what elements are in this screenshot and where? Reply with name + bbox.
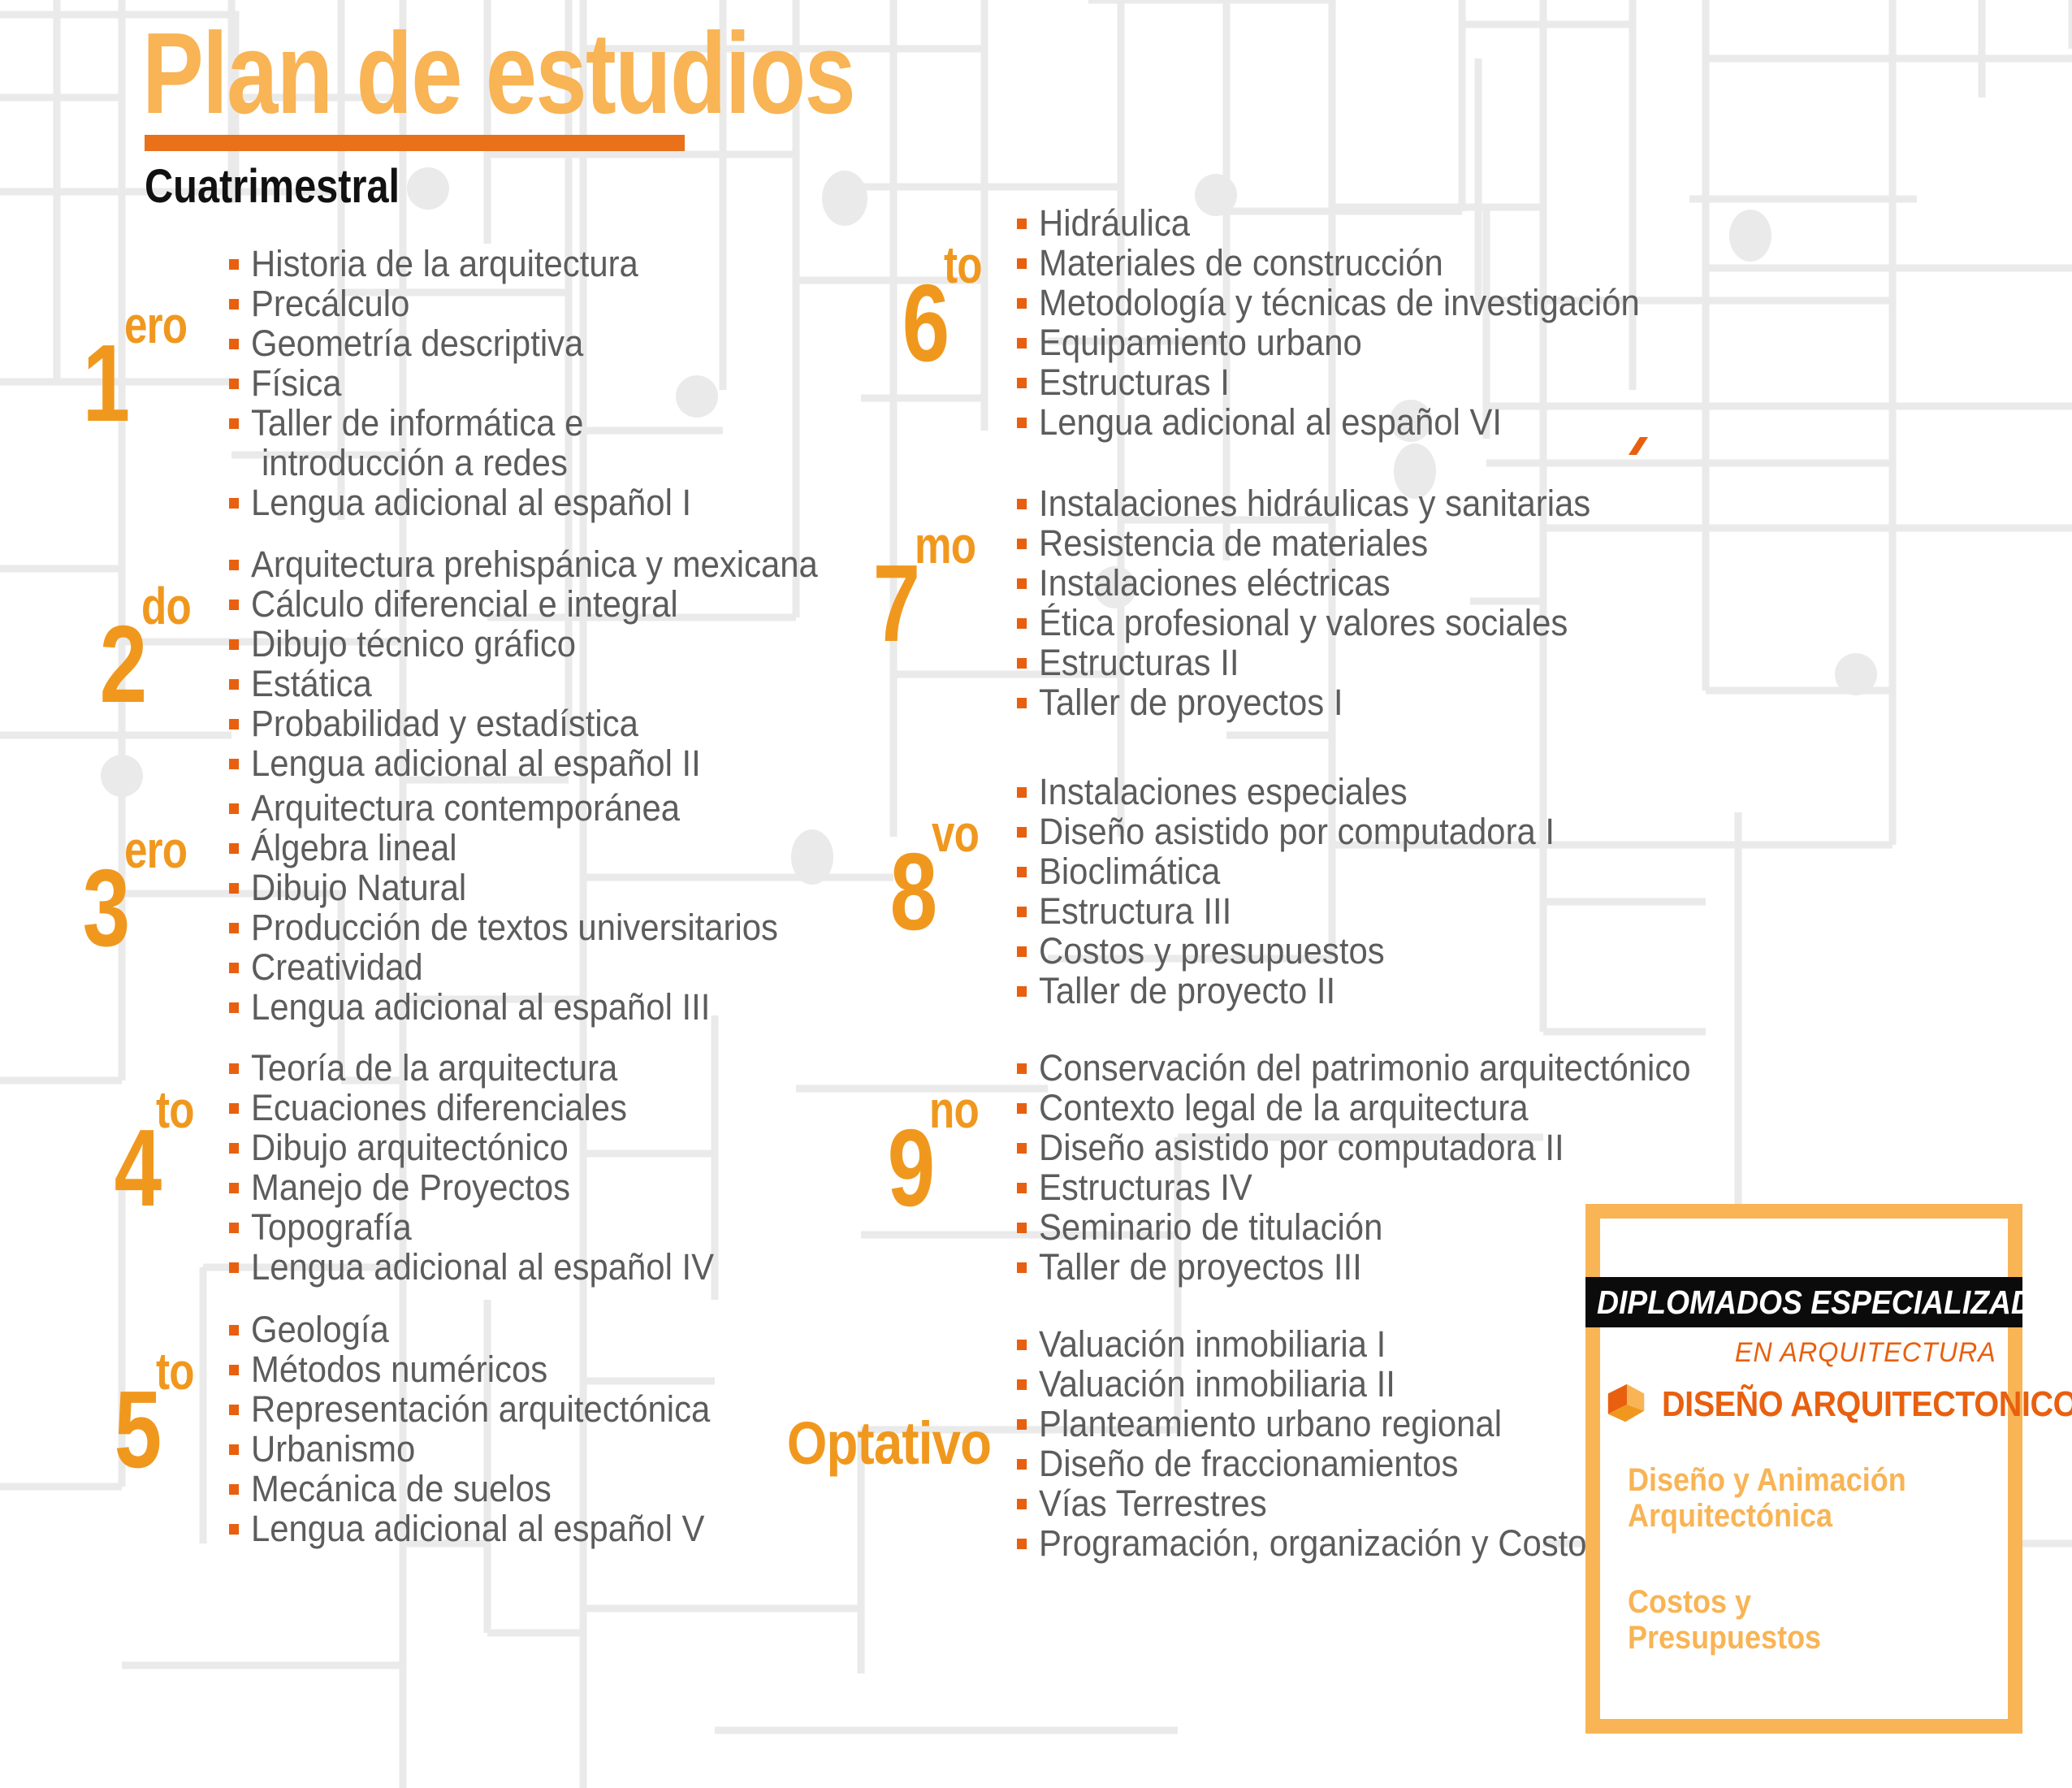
course-label: Lengua adicional al español III (251, 987, 710, 1027)
course-label: Dibujo técnico gráfico (251, 624, 576, 664)
bullet-square-icon (1017, 698, 1027, 708)
diploma-item-line: Costos y (1628, 1584, 1821, 1620)
course-label: Taller de informática e (251, 403, 583, 443)
bullet-square-icon (1017, 1419, 1027, 1430)
course-label: Dibujo arquitectónico (251, 1128, 569, 1167)
semester-block: 3eroArquitectura contemporáneaÁlgebra li… (49, 788, 820, 1027)
course-item: Métodos numéricos (229, 1349, 710, 1389)
bullet-square-icon (229, 1524, 239, 1535)
course-item: Estructuras II (1017, 643, 1590, 682)
bullet-square-icon (229, 1223, 239, 1233)
course-item: Costos y presupuestos (1017, 931, 1555, 971)
course-item: Instalaciones hidráulicas y sanitarias (1017, 483, 1590, 523)
semester-suffix: mo (915, 519, 975, 571)
bullet-square-icon (229, 1103, 239, 1114)
course-item: Vías Terrestres (1017, 1483, 1587, 1523)
bullet-square-icon (229, 719, 239, 729)
bullet-square-icon (1017, 1459, 1027, 1470)
diplomas-panel: DIPLOMADOS ESPECIALIZADOS EN ARQUITECTUR… (1585, 1204, 2022, 1734)
diploma-item: Diseño y AnimaciónArquitectónica (1628, 1462, 1906, 1534)
course-label: Materiales de construcción (1039, 243, 1443, 283)
bullet-square-icon (229, 843, 239, 854)
semester-suffix: no (929, 1084, 979, 1136)
semester-suffix: ero (124, 299, 187, 351)
course-label: Conservación del patrimonio arquitectóni… (1039, 1048, 1691, 1088)
course-label: Programación, organización y Costo (1039, 1523, 1587, 1563)
course-item: Resistencia de materiales (1017, 523, 1590, 563)
course-list: Arquitectura prehispánica y mexicanaCálc… (229, 544, 862, 783)
bullet-square-icon (1017, 1340, 1027, 1350)
course-item: Instalaciones especiales (1017, 772, 1555, 812)
course-list: Valuación inmobiliaria IValuación inmobi… (1017, 1324, 1629, 1563)
course-item: Diseño asistido por computadora II (1017, 1128, 1691, 1167)
bullet-square-icon (1017, 1262, 1027, 1273)
course-item: Representación arquitectónica (229, 1389, 710, 1429)
course-item: Producción de textos universitarios (229, 907, 778, 947)
course-item: Mecánica de suelos (229, 1469, 710, 1509)
semester-block: 2doArquitectura prehispánica y mexicanaC… (57, 544, 862, 783)
bullet-square-icon (229, 963, 239, 973)
page-subtitle: Cuatrimestral (145, 159, 890, 214)
course-item: Estática (229, 664, 818, 704)
semester-suffix: ero (124, 824, 187, 876)
course-item: Taller de proyectos I (1017, 682, 1590, 722)
course-label: Estructura III (1039, 891, 1231, 931)
diploma-item-line: Diseño y Animación (1628, 1462, 1906, 1498)
course-item: Diseño de fraccionamientos (1017, 1444, 1587, 1483)
bullet-square-icon (1017, 658, 1027, 669)
course-label: Bioclimática (1039, 851, 1220, 891)
course-item: Geometría descriptiva (229, 323, 691, 363)
semester-label: 6to (837, 268, 991, 378)
diplomas-brand-row: DISEÑO ARQUITECTONICO (1603, 1381, 2072, 1428)
semester-number: 3 (83, 853, 128, 963)
bullet-square-icon (1017, 618, 1027, 629)
course-label: Valuación inmobiliaria II (1039, 1364, 1395, 1404)
course-label: Instalaciones especiales (1039, 772, 1408, 812)
course-label: Diseño asistido por computadora II (1039, 1128, 1564, 1167)
bullet-square-icon (229, 458, 239, 469)
bullet-square-icon (229, 560, 239, 570)
course-item: Teoría de la arquitectura (229, 1048, 714, 1088)
bullet-square-icon (229, 339, 239, 349)
course-item: Contexto legal de la arquitectura (1017, 1088, 1691, 1128)
course-list: Teoría de la arquitecturaEcuaciones dife… (229, 1048, 751, 1287)
course-item: Instalaciones eléctricas (1017, 563, 1590, 603)
course-label: Diseño de fraccionamientos (1039, 1444, 1458, 1483)
course-label: Hidráulica (1039, 203, 1190, 243)
semester-block: 6toHidráulicaMateriales de construcciónM… (837, 203, 1686, 442)
course-label: Estática (251, 664, 372, 704)
course-item: Planteamiento urbano regional (1017, 1404, 1587, 1444)
course-label: Producción de textos universitarios (251, 907, 778, 947)
course-label: Equipamiento urbano (1039, 323, 1362, 362)
semester-word: Optativo (787, 1414, 991, 1474)
course-label: Arquitectura contemporánea (251, 788, 680, 828)
bullet-square-icon (1017, 827, 1027, 838)
semester-label: 2do (57, 609, 203, 719)
course-label: Resistencia de materiales (1039, 523, 1428, 563)
course-label: Mecánica de suelos (251, 1469, 552, 1509)
bullet-square-icon (229, 1063, 239, 1074)
course-list: Historia de la arquitecturaPrecálculoGeo… (229, 244, 726, 522)
semester-number: 6 (902, 268, 946, 378)
course-label: Metodología y técnicas de investigación (1039, 283, 1640, 323)
bullet-square-icon (229, 1405, 239, 1415)
course-label: Lengua adicional al español IV (251, 1247, 714, 1287)
course-item: Estructuras IV (1017, 1167, 1691, 1207)
bullet-square-icon (1017, 1143, 1027, 1154)
diploma-item-line: Arquitectónica (1628, 1498, 1906, 1534)
course-label: Lengua adicional al español II (251, 743, 701, 783)
semester-label: 4to (57, 1113, 203, 1223)
course-label: Cálculo diferencial e integral (251, 584, 678, 624)
course-item: Lengua adicional al español I (229, 483, 691, 522)
bullet-square-icon (1017, 578, 1027, 589)
semester-suffix: to (156, 1084, 194, 1136)
bullet-square-icon (1017, 298, 1027, 309)
course-label: Creatividad (251, 947, 423, 987)
semester-block: 1eroHistoria de la arquitecturaPrecálcul… (57, 244, 726, 522)
course-item: Urbanismo (229, 1429, 710, 1469)
course-label: Representación arquitectónica (251, 1389, 710, 1429)
course-item: Precálculo (229, 284, 691, 323)
course-item: Estructuras I (1017, 362, 1640, 402)
course-item: Lengua adicional al español V (229, 1509, 710, 1548)
course-item: Historia de la arquitectura (229, 244, 691, 284)
course-label: Teoría de la arquitectura (251, 1048, 617, 1088)
bullet-square-icon (229, 1002, 239, 1013)
bullet-square-icon (229, 1365, 239, 1375)
course-item: Dibujo arquitectónico (229, 1128, 714, 1167)
course-label: Planteamiento urbano regional (1039, 1404, 1502, 1444)
course-label: Taller de proyectos III (1039, 1247, 1362, 1287)
semester-label: 1ero (57, 328, 203, 438)
course-label: Contexto legal de la arquitectura (1039, 1088, 1529, 1128)
semester-label: 5to (57, 1375, 203, 1484)
bullet-square-icon (1017, 539, 1027, 549)
course-item: Ética profesional y valores sociales (1017, 603, 1590, 643)
semester-number: 2 (99, 609, 144, 719)
semester-suffix: to (944, 239, 982, 291)
course-label: Valuación inmobiliaria I (1039, 1324, 1386, 1364)
bullet-square-icon (229, 803, 239, 814)
course-item: Topografía (229, 1207, 714, 1247)
course-item: Programación, organización y Costo (1017, 1523, 1587, 1563)
semester-block: 7moInstalaciones hidráulicas y sanitaria… (837, 483, 1633, 722)
course-item: Manejo de Proyectos (229, 1167, 714, 1207)
course-label: Costos y presupuestos (1039, 931, 1385, 971)
diplomas-brand-label: DISEÑO ARQUITECTONICO (1662, 1384, 2072, 1425)
semester-block: 4toTeoría de la arquitecturaEcuaciones d… (57, 1048, 751, 1287)
course-item: Física (229, 363, 691, 403)
bullet-square-icon (229, 1183, 239, 1193)
bullet-square-icon (1017, 1223, 1027, 1233)
course-label: Métodos numéricos (251, 1349, 547, 1389)
course-item: Arquitectura prehispánica y mexicana (229, 544, 818, 584)
course-item: introducción a redes (229, 443, 691, 483)
course-label: Geometría descriptiva (251, 323, 583, 363)
semester-number: 9 (887, 1113, 932, 1223)
course-item: Hidráulica (1017, 203, 1640, 243)
course-label: Lengua adicional al español V (251, 1509, 704, 1548)
course-label: Estructuras IV (1039, 1167, 1252, 1207)
diploma-item-line: Presupuestos (1628, 1620, 1821, 1656)
diplomas-subtitle: EN ARQUITECTURA (1735, 1337, 1996, 1369)
bullet-square-icon (229, 679, 239, 690)
semester-label: Optativo (747, 1414, 991, 1474)
bullet-square-icon (1017, 907, 1027, 917)
course-label: Manejo de Proyectos (251, 1167, 570, 1207)
bullet-square-icon (1017, 219, 1027, 229)
bullet-square-icon (1017, 1539, 1027, 1549)
course-label: introducción a redes (262, 443, 568, 483)
bullet-square-icon (229, 498, 239, 509)
bullet-square-icon (1017, 1379, 1027, 1390)
course-item: Geología (229, 1310, 710, 1349)
course-label: Urbanismo (251, 1429, 415, 1469)
bullet-square-icon (229, 600, 239, 610)
course-item: Cálculo diferencial e integral (229, 584, 818, 624)
bullet-square-icon (1017, 499, 1027, 509)
course-list: GeologíaMétodos numéricosRepresentación … (229, 1310, 746, 1548)
course-item: Arquitectura contemporánea (229, 788, 778, 828)
diploma-item: Costos yPresupuestos (1628, 1584, 1821, 1656)
bullet-square-icon (229, 1484, 239, 1495)
course-label: Diseño asistido por computadora I (1039, 812, 1555, 851)
course-item: Lengua adicional al español VI (1017, 402, 1640, 442)
course-label: Lengua adicional al español I (251, 483, 691, 522)
course-item: Diseño asistido por computadora I (1017, 812, 1555, 851)
course-label: Topografía (251, 1207, 412, 1247)
course-item: Taller de proyecto II (1017, 971, 1555, 1011)
course-list: Instalaciones hidráulicas y sanitariasRe… (1017, 483, 1633, 722)
course-label: Seminario de titulación (1039, 1207, 1382, 1247)
course-item: Valuación inmobiliaria II (1017, 1364, 1587, 1404)
bullet-square-icon (229, 883, 239, 894)
semester-label: 3ero (49, 853, 203, 963)
page-title: Plan de estudios (142, 18, 854, 130)
semester-block: 8voInstalaciones especialesDiseño asisti… (837, 772, 1595, 1011)
cube-logo-icon (1603, 1381, 1650, 1428)
bullet-square-icon (229, 299, 239, 310)
bullet-square-icon (229, 259, 239, 270)
course-item: Conservación del patrimonio arquitectóni… (1017, 1048, 1691, 1088)
course-label: Arquitectura prehispánica y mexicana (251, 544, 818, 584)
course-item: Bioclimática (1017, 851, 1555, 891)
bullet-square-icon (1017, 787, 1027, 798)
bullet-square-icon (1017, 986, 1027, 997)
semester-block: OptativoValuación inmobiliaria IValuació… (747, 1324, 1629, 1563)
page-header: Plan de estudios Cuatrimestral (142, 18, 1032, 214)
bullet-square-icon (229, 759, 239, 769)
semester-suffix: do (141, 580, 191, 632)
course-item: Lengua adicional al español II (229, 743, 818, 783)
semester-label: 9no (833, 1113, 991, 1223)
semester-suffix: vo (932, 807, 979, 859)
course-item: Dibujo Natural (229, 868, 778, 907)
course-item: Equipamiento urbano (1017, 323, 1640, 362)
course-label: Ética profesional y valores sociales (1039, 603, 1568, 643)
course-label: Precálculo (251, 284, 409, 323)
semester-number: 5 (114, 1375, 158, 1484)
bullet-square-icon (229, 379, 239, 389)
course-label: Taller de proyecto II (1039, 971, 1335, 1011)
diplomas-banner: DIPLOMADOS ESPECIALIZADOS (1585, 1277, 2022, 1327)
semester-label: 8vo (837, 837, 991, 946)
course-list: HidráulicaMateriales de construcciónMeto… (1017, 203, 1686, 442)
course-label: Taller de proyectos I (1039, 682, 1343, 722)
bullet-square-icon (1017, 1183, 1027, 1193)
semester-number: 8 (890, 837, 935, 946)
bullet-square-icon (1017, 338, 1027, 349)
course-label: Probabilidad y estadística (251, 704, 638, 743)
bullet-square-icon (229, 1262, 239, 1273)
bullet-square-icon (229, 418, 239, 429)
course-label: Física (251, 363, 342, 403)
bullet-square-icon (1017, 258, 1027, 269)
course-item: Lengua adicional al español IV (229, 1247, 714, 1287)
bullet-square-icon (229, 1444, 239, 1455)
bullet-square-icon (1017, 418, 1027, 428)
course-label: Estructuras I (1039, 362, 1230, 402)
semester-suffix: to (156, 1345, 194, 1397)
course-label: Instalaciones eléctricas (1039, 563, 1391, 603)
course-item: Estructura III (1017, 891, 1555, 931)
bullet-square-icon (1017, 1063, 1027, 1074)
course-label: Historia de la arquitectura (251, 244, 638, 284)
bullet-square-icon (1017, 378, 1027, 388)
bullet-square-icon (1017, 1103, 1027, 1114)
course-label: Álgebra lineal (251, 828, 457, 868)
course-label: Dibujo Natural (251, 868, 466, 907)
bullet-square-icon (229, 1143, 239, 1154)
course-list: Instalaciones especialesDiseño asistido … (1017, 772, 1595, 1011)
semester-number: 7 (873, 548, 918, 658)
bullet-square-icon (229, 923, 239, 933)
semester-number: 1 (83, 328, 128, 438)
bullet-square-icon (1017, 946, 1027, 957)
course-label: Instalaciones hidráulicas y sanitarias (1039, 483, 1590, 523)
course-list: Arquitectura contemporáneaÁlgebra lineal… (229, 788, 820, 1027)
bullet-square-icon (229, 1325, 239, 1336)
course-label: Vías Terrestres (1039, 1483, 1267, 1523)
course-label: Estructuras II (1039, 643, 1239, 682)
course-item: Probabilidad y estadística (229, 704, 818, 743)
bullet-square-icon (1017, 1499, 1027, 1509)
course-item: Dibujo técnico gráfico (229, 624, 818, 664)
diplomas-banner-label: DIPLOMADOS ESPECIALIZADOS (1597, 1284, 2072, 1322)
course-item: Materiales de construcción (1017, 243, 1640, 283)
course-item: Valuación inmobiliaria I (1017, 1324, 1587, 1364)
course-label: Lengua adicional al español VI (1039, 402, 1502, 442)
semester-label: 7mo (837, 548, 991, 658)
bullet-square-icon (1017, 867, 1027, 877)
course-label: Ecuaciones diferenciales (251, 1088, 627, 1128)
course-item: Taller de informática e (229, 403, 691, 443)
course-label: Geología (251, 1310, 389, 1349)
course-item: Lengua adicional al español III (229, 987, 778, 1027)
course-item: Creatividad (229, 947, 778, 987)
bullet-square-icon (229, 639, 239, 650)
semester-number: 4 (114, 1113, 158, 1223)
course-item: Metodología y técnicas de investigación (1017, 283, 1640, 323)
semester-block: 5toGeologíaMétodos numéricosRepresentaci… (57, 1310, 746, 1548)
course-item: Ecuaciones diferenciales (229, 1088, 714, 1128)
course-item: Álgebra lineal (229, 828, 778, 868)
